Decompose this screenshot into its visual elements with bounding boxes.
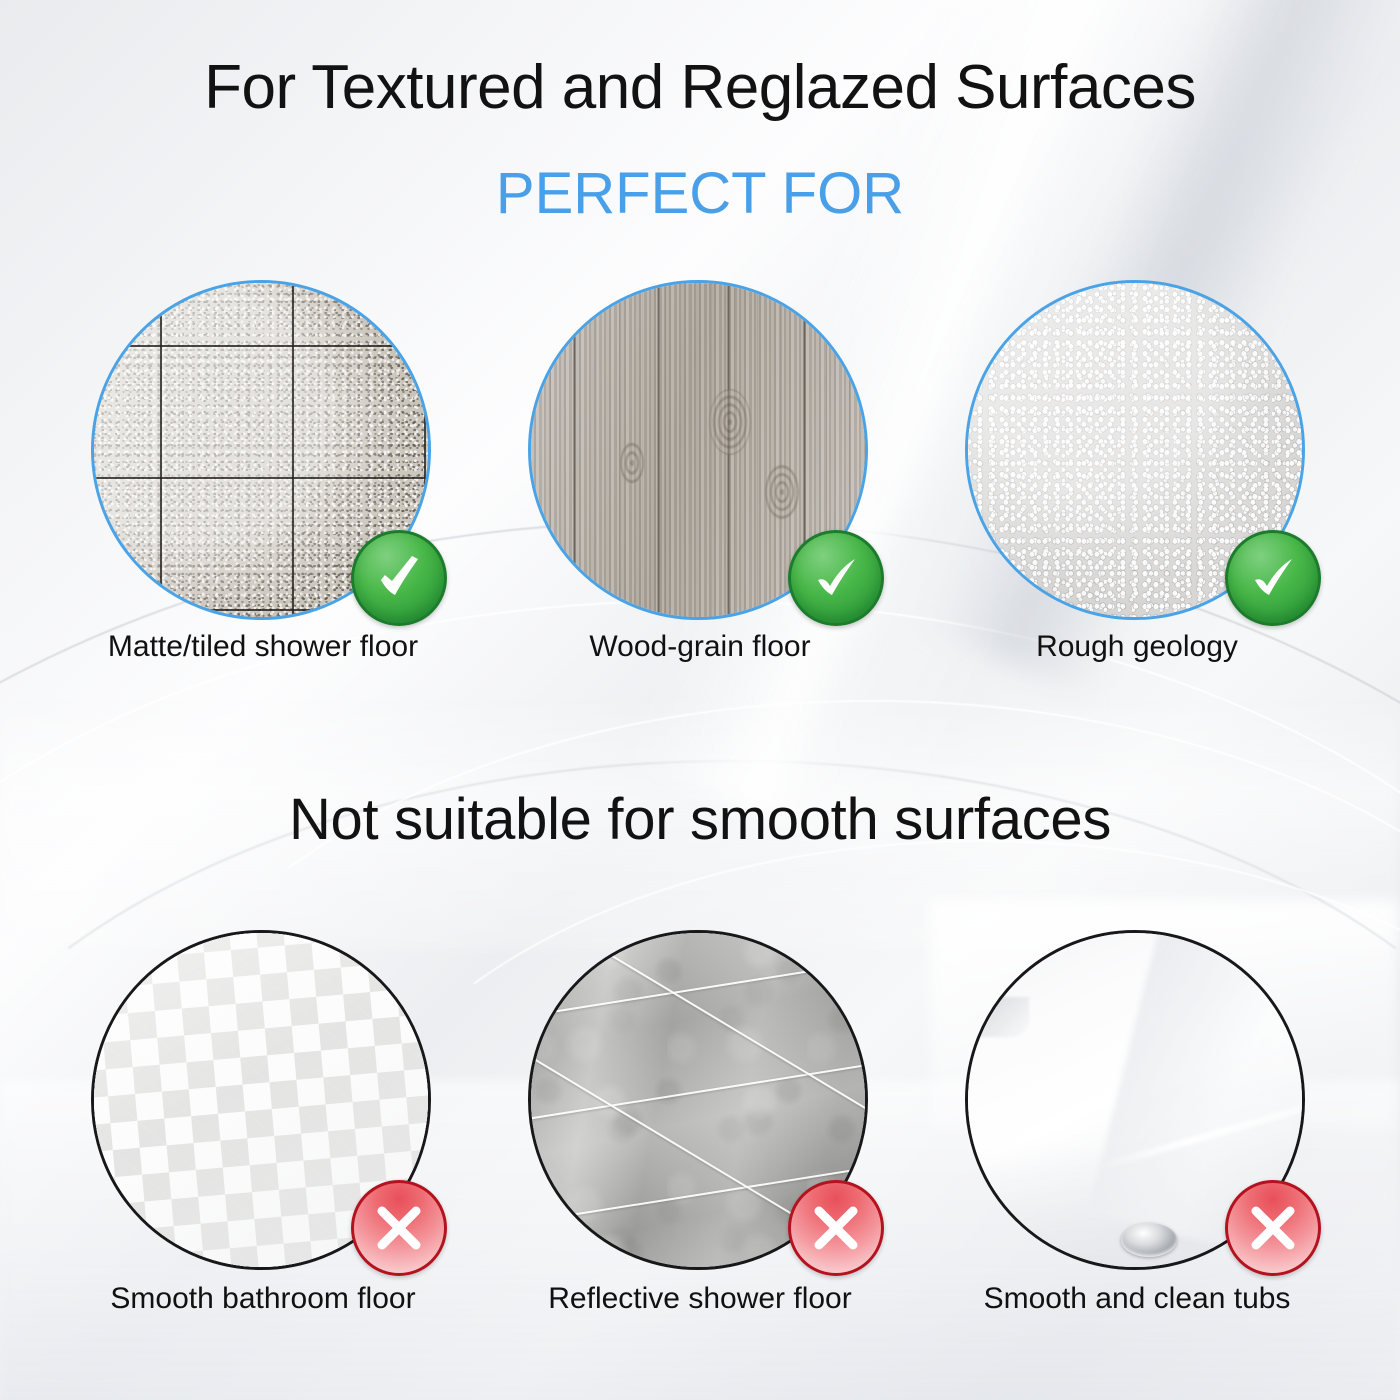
surface-card-wood-grain-floor: Wood-grain floor [528, 280, 873, 620]
perfect-for-subtitle: PERFECT FOR [0, 160, 1400, 227]
infographic-page: For Textured and Reglazed Surfaces PERFE… [0, 0, 1400, 1400]
surface-card-smooth-bathroom-floor: Smooth bathroom floor [91, 930, 436, 1270]
cross-icon [1244, 1199, 1302, 1257]
surface-label: Matte/tiled shower floor [91, 630, 436, 664]
status-badge-not-suitable [788, 1180, 884, 1276]
surface-thumbnail-wrap [965, 930, 1305, 1270]
status-badge-not-suitable [1225, 1180, 1321, 1276]
surface-thumbnail-wrap [91, 280, 431, 620]
surface-thumbnail-wrap [528, 280, 868, 620]
status-badge-suitable [1225, 530, 1321, 626]
surface-label: Rough geology [965, 630, 1310, 664]
surface-thumbnail-wrap [91, 930, 431, 1270]
wood-knot [709, 389, 751, 455]
cross-icon [370, 1199, 428, 1257]
cross-icon [807, 1199, 865, 1257]
surface-thumbnail-wrap [528, 930, 868, 1270]
unsuitable-surfaces-row: Smooth bathroom floor [0, 930, 1400, 1270]
check-icon [807, 549, 865, 607]
wood-knot [619, 441, 645, 485]
check-icon [1244, 549, 1302, 607]
surface-label: Reflective shower floor [528, 1282, 873, 1316]
suitable-surfaces-row: Matte/tiled shower floor [0, 280, 1400, 620]
surface-label: Smooth and clean tubs [965, 1282, 1310, 1316]
not-suitable-title: Not suitable for smooth surfaces [0, 786, 1400, 853]
status-badge-not-suitable [351, 1180, 447, 1276]
status-badge-suitable [788, 530, 884, 626]
status-badge-suitable [351, 530, 447, 626]
tub-corner [977, 997, 1029, 1037]
page-title: For Textured and Reglazed Surfaces [0, 52, 1400, 123]
surface-card-rough-geology: Rough geology [965, 280, 1310, 620]
tub-drain [1121, 1223, 1177, 1257]
surface-label: Smooth bathroom floor [91, 1282, 436, 1316]
check-icon [370, 549, 428, 607]
surface-card-reflective-shower-floor: Reflective shower floor [528, 930, 873, 1270]
surface-card-matte-tiled-shower-floor: Matte/tiled shower floor [91, 280, 436, 620]
surface-thumbnail-wrap [965, 280, 1305, 620]
surface-card-smooth-clean-tubs: Smooth and clean tubs [965, 930, 1310, 1270]
wood-knot [765, 465, 799, 519]
surface-label: Wood-grain floor [528, 630, 873, 664]
